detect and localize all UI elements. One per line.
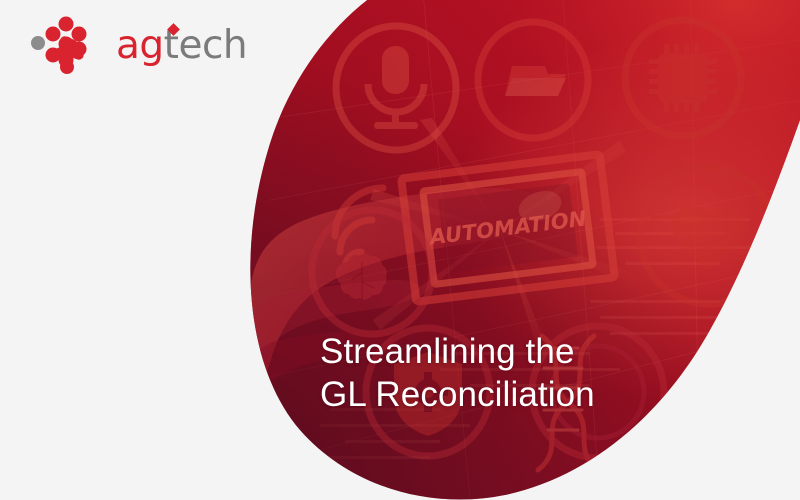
brand-logo[interactable]: agtech bbox=[30, 16, 247, 74]
hero-shape-svg: AUTOMATION bbox=[0, 0, 800, 500]
title-line-2: GL Reconciliation bbox=[320, 373, 595, 416]
page-title: Streamlining the GL Reconciliation bbox=[320, 330, 595, 417]
title-line-1: Streamlining the bbox=[320, 330, 595, 373]
logo-mark-icon bbox=[30, 16, 102, 74]
logo-gray-dot bbox=[31, 36, 45, 50]
logo-word-ag: ag bbox=[116, 23, 164, 68]
logo-wordmark: agtech bbox=[116, 26, 247, 65]
hero-vignette bbox=[0, 0, 800, 500]
slide-canvas: AUTOMATION bbox=[0, 0, 800, 500]
hero-banner: AUTOMATION bbox=[0, 0, 800, 500]
